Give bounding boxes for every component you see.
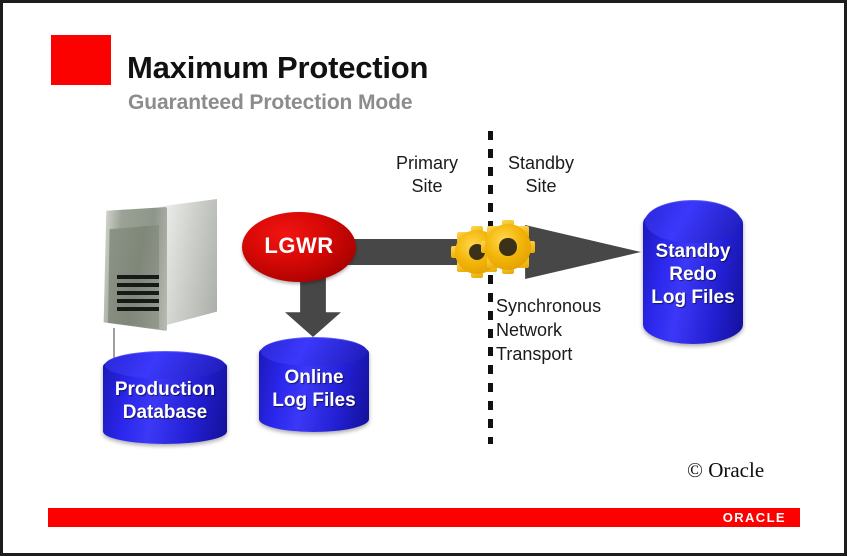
transport-caption: Synchronous Network Transport <box>496 295 601 366</box>
production-database-label: Production Database <box>103 378 227 424</box>
oracle-logo: ORACLE <box>723 510 786 525</box>
primary-site-label-line1: Primary <box>396 152 458 175</box>
production-database-label-line1: Production <box>103 378 227 401</box>
standby-site-label-line1: Standby <box>508 152 574 175</box>
gear-right-hub <box>499 238 516 255</box>
online-log-files-cylinder: Online Log Files <box>259 340 369 432</box>
standby-redo-log-files-cylinder: Standby Redo Log Files <box>643 204 743 344</box>
cylinder-top-ellipse <box>105 351 224 379</box>
cylinder-top-ellipse <box>261 337 367 366</box>
gear-right-icon <box>485 224 531 270</box>
server-vent-slat <box>117 283 159 287</box>
standby-site-label-line2: Site <box>508 175 574 198</box>
transport-caption-line2: Network <box>496 319 601 343</box>
server-vent-slat <box>117 299 159 303</box>
production-database-cylinder: Production Database <box>103 354 227 444</box>
standby-site-label: Standby Site <box>508 152 574 198</box>
standby-redo-log-files-label-line1: Standby <box>643 240 743 263</box>
footer-bar: ORACLE <box>48 508 800 527</box>
standby-redo-log-files-label-line3: Log Files <box>643 286 743 309</box>
primary-site-label-line2: Site <box>396 175 458 198</box>
standby-redo-log-files-label: Standby Redo Log Files <box>643 240 743 310</box>
network-gears-icon <box>455 222 531 278</box>
copyright-text: © Oracle <box>687 458 764 483</box>
online-log-files-label-line2: Log Files <box>259 389 369 412</box>
redo-write-arrow-down <box>285 275 341 337</box>
page-subtitle: Guaranteed Protection Mode <box>128 91 412 115</box>
lgwr-process-label: LGWR <box>242 233 356 259</box>
server-vent-slat <box>117 291 159 295</box>
online-log-files-label-line1: Online <box>259 366 369 389</box>
transport-caption-line1: Synchronous <box>496 295 601 319</box>
cylinder-top-ellipse <box>645 200 741 243</box>
page-title: Maximum Protection <box>127 50 428 86</box>
standby-redo-log-files-label-line2: Redo <box>643 263 743 286</box>
server-front-panel <box>101 207 167 331</box>
slide-canvas: Maximum Protection Guaranteed Protection… <box>0 0 847 556</box>
server-tower-icon <box>101 199 219 329</box>
lgwr-process-ellipse: LGWR <box>242 212 356 282</box>
site-divider-dashed-line <box>488 131 493 444</box>
production-database-label-line2: Database <box>103 401 227 424</box>
server-side-panel <box>159 199 217 327</box>
server-vent-slat <box>117 307 159 311</box>
primary-site-label: Primary Site <box>396 152 458 198</box>
server-vent-slat <box>117 275 159 279</box>
accent-square <box>51 35 111 85</box>
online-log-files-label: Online Log Files <box>259 366 369 412</box>
transport-caption-line3: Transport <box>496 343 601 367</box>
server-inner-panel <box>107 225 159 329</box>
